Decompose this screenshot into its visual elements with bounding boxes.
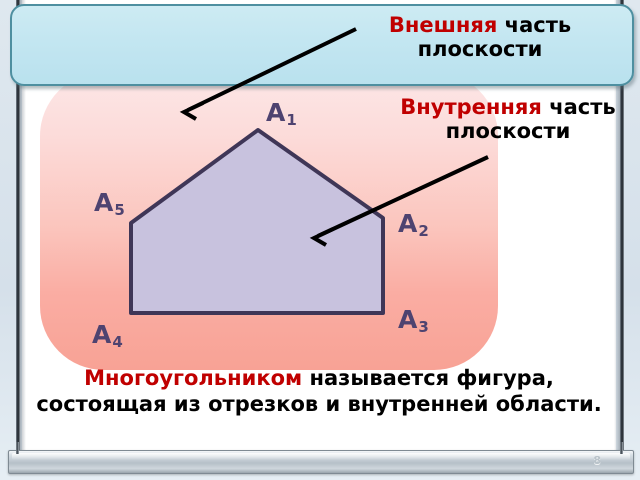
page-number: 8	[593, 454, 601, 467]
footer-tick-left	[16, 442, 19, 454]
outer-plane-accent-word: Внешняя	[389, 13, 498, 37]
outer-plane-line2: плоскости	[418, 37, 543, 61]
outer-plane-rest-line1: часть	[497, 13, 571, 37]
vertex-label-a2: A2	[398, 211, 428, 236]
vertex-label-a5: A5	[94, 190, 124, 215]
inner-plane-line2: плоскости	[446, 119, 571, 143]
vertex-label-a4: A4	[92, 322, 122, 347]
definition-accent-word: Многоугольником	[84, 366, 302, 390]
vertex-a2-subscript: 2	[418, 222, 428, 240]
vertex-a4-subscript: 4	[112, 333, 122, 351]
vertex-a1-letter: A	[266, 98, 285, 127]
presentation-slide-frame: Внешняя часть плоскости Внутренняя часть…	[0, 0, 640, 480]
definition-sentence: Многоугольником называется фигура, состо…	[26, 366, 612, 417]
outer-plane-label: Внешняя часть плоскости	[330, 14, 630, 61]
inner-plane-rest-line1: часть	[542, 95, 616, 119]
inner-plane-label: Внутренняя часть плоскости	[358, 96, 640, 143]
vertex-a5-letter: A	[94, 188, 113, 217]
slide-footer-bar: 8	[8, 450, 634, 474]
vertex-label-a1: A1	[266, 100, 296, 125]
vertex-a3-subscript: 3	[418, 318, 428, 336]
vertex-a3-letter: A	[398, 305, 417, 334]
vertex-a2-letter: A	[398, 209, 417, 238]
vertex-a1-subscript: 1	[286, 111, 296, 129]
inner-plane-accent-word: Внутренняя	[400, 95, 542, 119]
vertex-label-a3: A3	[398, 307, 428, 332]
vertex-a4-letter: A	[92, 320, 111, 349]
footer-tick-right	[620, 442, 623, 454]
vertex-a5-subscript: 5	[114, 201, 124, 219]
